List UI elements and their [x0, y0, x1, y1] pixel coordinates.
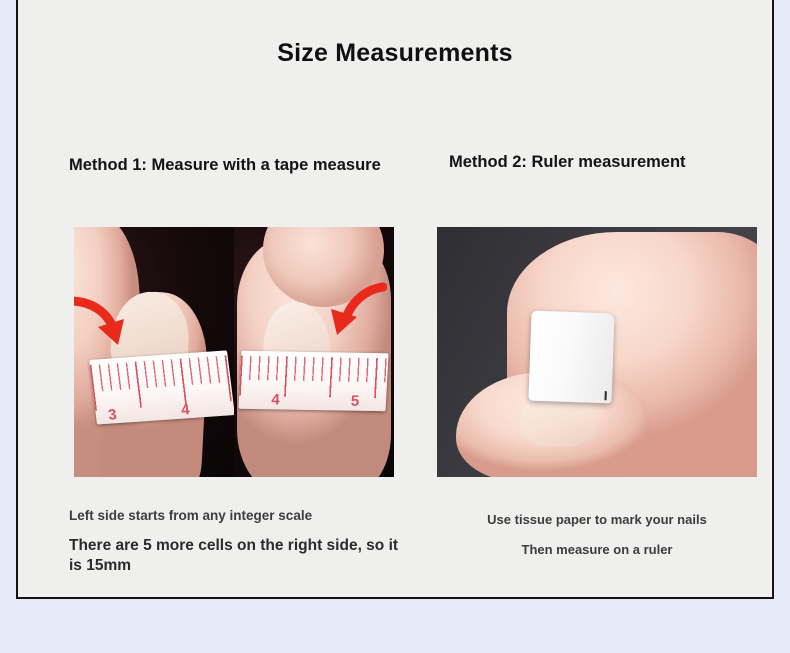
- tape-number: 4: [180, 401, 190, 416]
- tape-measure-band: 3 4: [89, 350, 234, 424]
- method-2-caption-line-1: Use tissue paper to mark your nails: [437, 511, 757, 528]
- tape-major-ticks: [240, 355, 389, 398]
- red-arrow-icon: [317, 277, 387, 347]
- tape-number: 5: [351, 394, 360, 409]
- method-1-caption-line-1: Left side starts from any integer scale: [69, 507, 312, 525]
- tape-measure-band: 4 5: [239, 351, 389, 411]
- method-1-photo-right-panel: 4 5: [234, 227, 394, 477]
- tissue-paper-wrap: [528, 311, 614, 404]
- content-panel: Size Measurements Method 1: Measure with…: [16, 0, 774, 599]
- pencil-mark: [605, 392, 607, 401]
- tape-major-ticks: [90, 355, 233, 410]
- page-title: Size Measurements: [18, 39, 772, 68]
- method-2-caption-line-2: Then measure on a ruler: [437, 541, 757, 558]
- tape-number: 4: [271, 393, 280, 408]
- method-2-photo: [437, 227, 757, 477]
- page-root: Size Measurements Method 1: Measure with…: [0, 0, 790, 653]
- method-1-photo: 3 4 4 5: [74, 227, 394, 477]
- method-2-heading: Method 2: Ruler measurement: [449, 153, 686, 172]
- method-1-heading: Method 1: Measure with a tape measure: [69, 156, 381, 175]
- red-arrow-icon: [74, 287, 138, 357]
- method-1-photo-left-panel: 3 4: [74, 227, 234, 477]
- method-1-caption-line-2: There are 5 more cells on the right side…: [69, 536, 399, 577]
